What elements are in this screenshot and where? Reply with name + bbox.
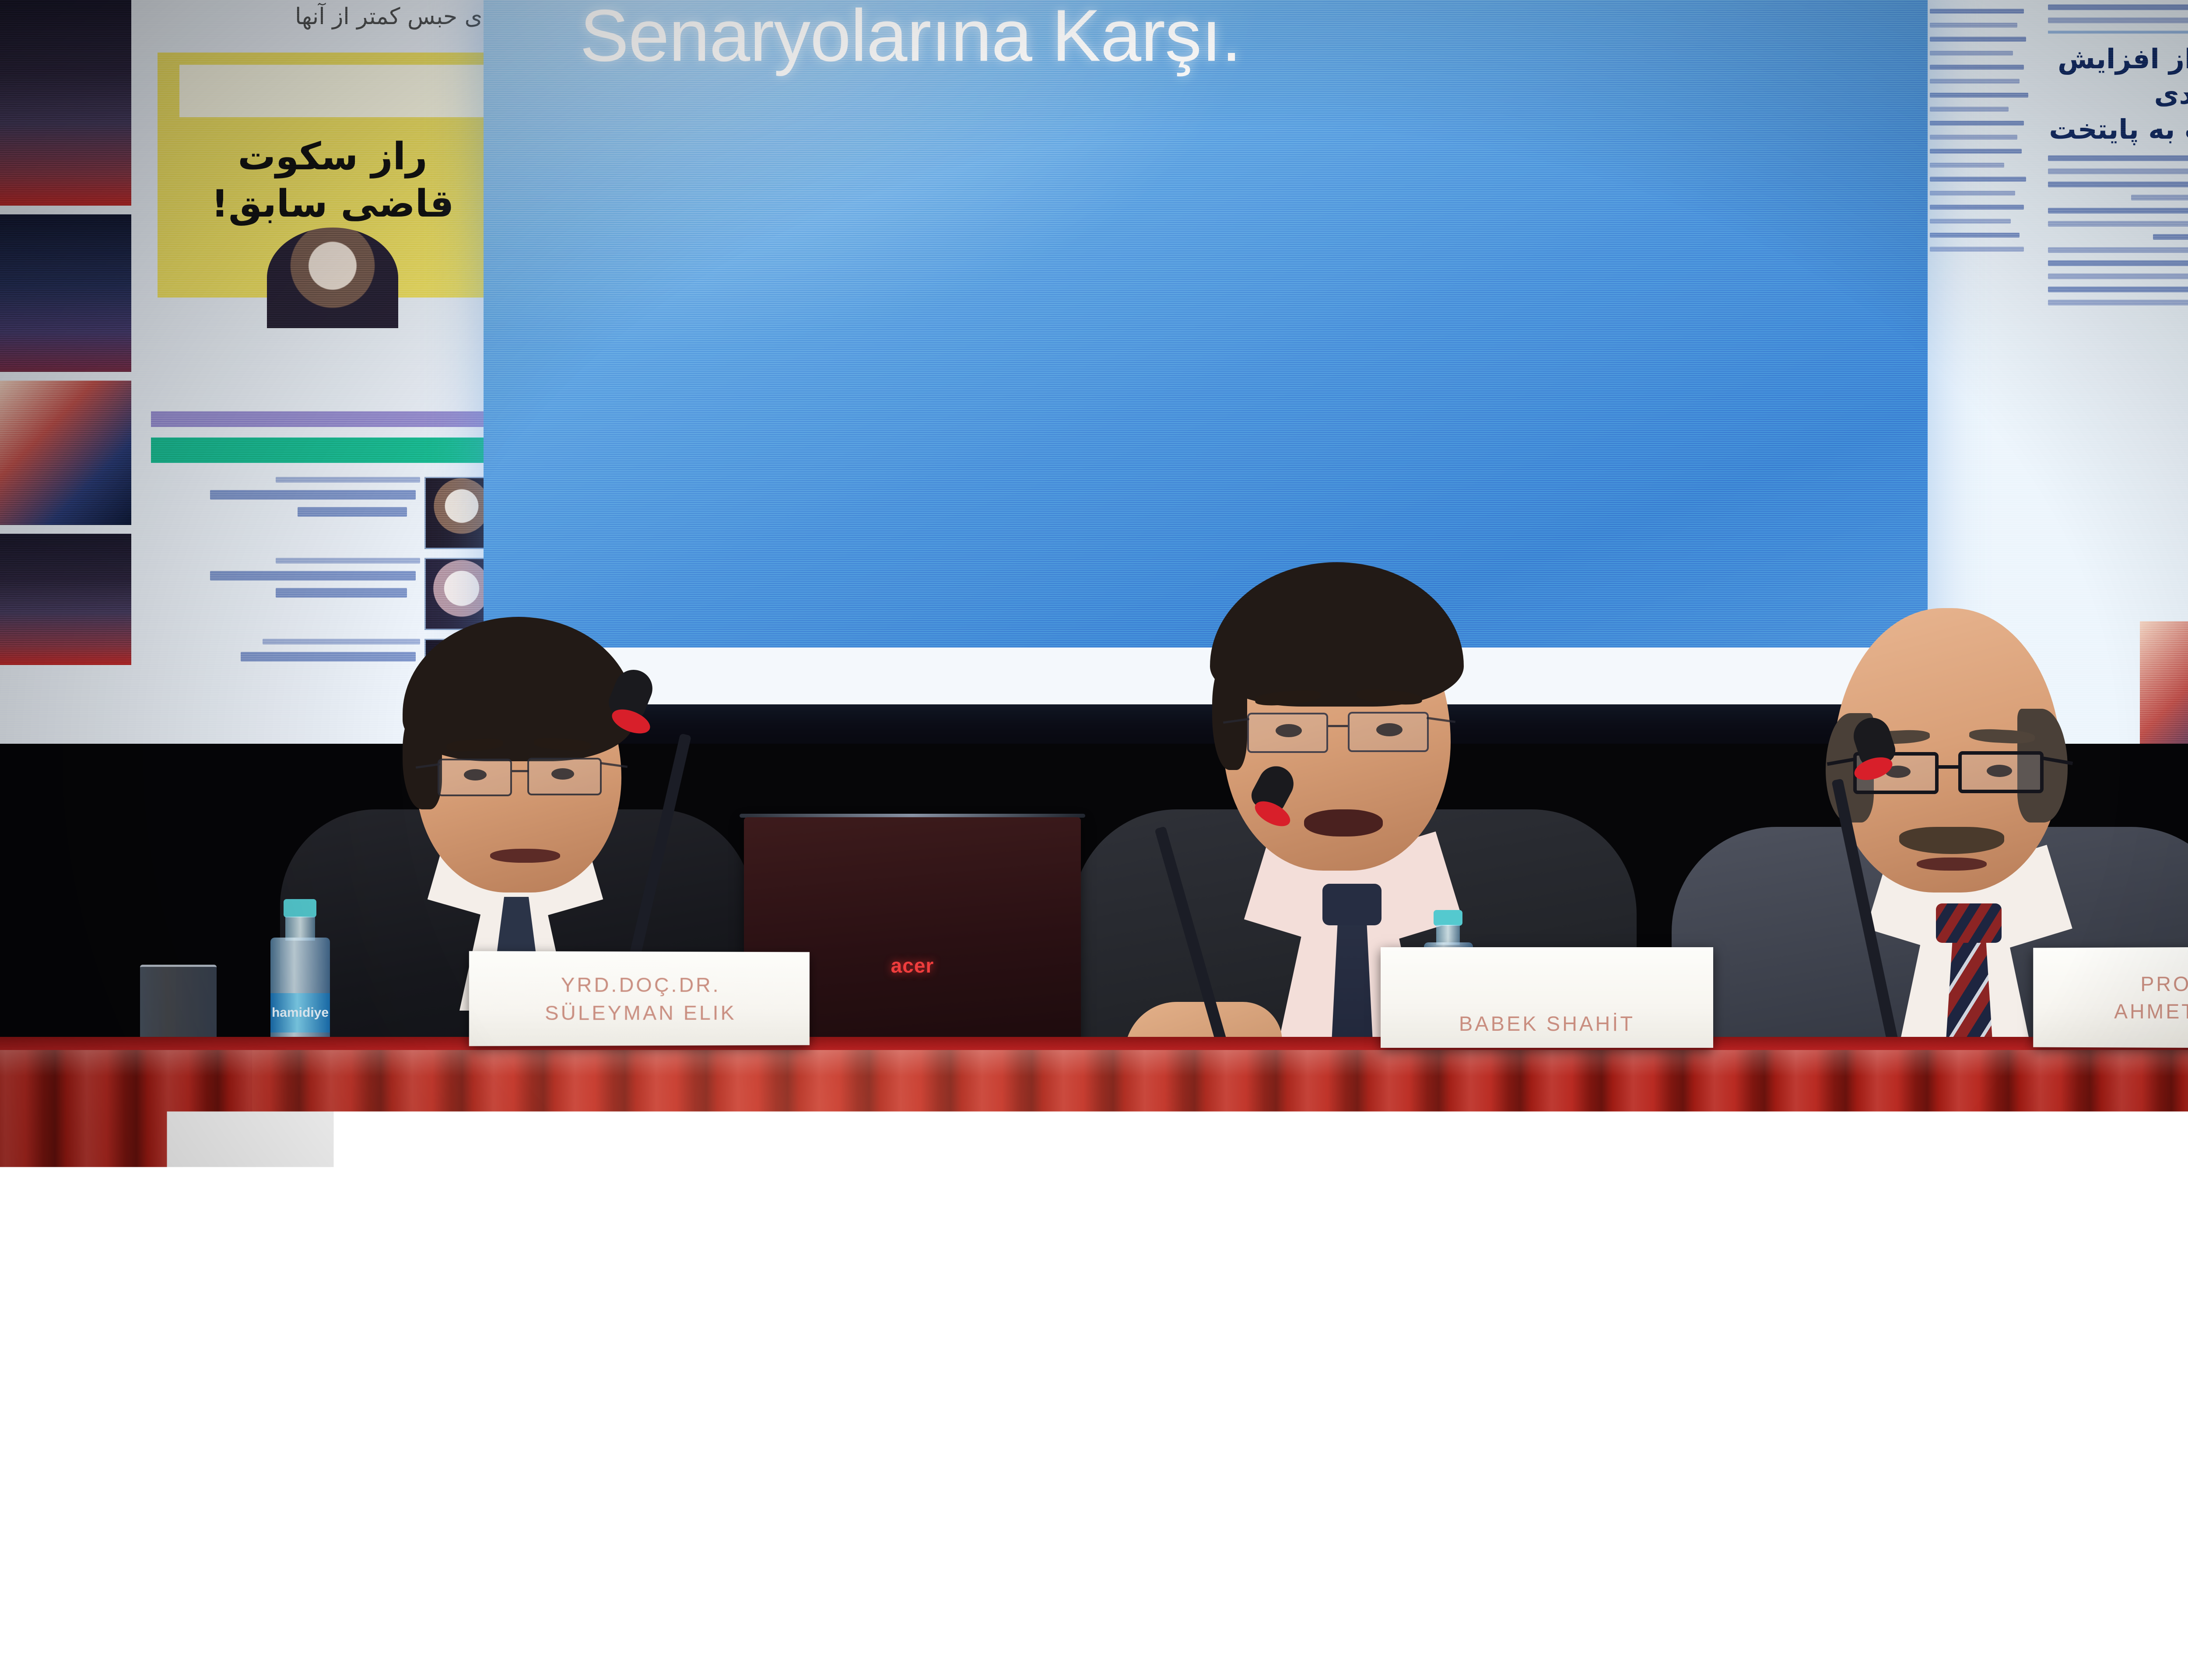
nameplate-name: SÜLEYMAN ELIK [545, 999, 736, 1027]
nameplate-name: BABEK SHAHİT [1459, 1010, 1635, 1037]
section-bar [151, 437, 501, 463]
newspaper-portrait [267, 227, 398, 328]
eyeglass-lens-left [438, 759, 512, 796]
slide-headline: Senaryolarına Karşı. [580, 0, 1241, 78]
tablecloth-shadow [0, 1365, 2188, 1680]
hair [1210, 562, 1464, 707]
mic-gooseneck [1831, 778, 1900, 1054]
nameplate-name: AHMET KAVAS [2114, 997, 2188, 1025]
eyeglasses [1243, 711, 1444, 761]
bottle-label: hamidiye [270, 993, 330, 1032]
protest-photo [0, 381, 131, 525]
nameplate-title: YRD.DOÇ.DR. [561, 971, 721, 999]
right-collage-headline: نگرانی از افزایش ۱۵ درصدی [2048, 42, 2188, 112]
nameplate-title: PROF.DR. [2140, 969, 2188, 997]
nameplate-babek-shahit: BABEK SHAHİT [1381, 947, 1713, 1048]
eyeglass-lens-right [1348, 712, 1429, 752]
water-brand-label: hamidiye [270, 1005, 330, 1020]
microphone-right[interactable] [1838, 717, 1978, 1072]
bottle-cap [1434, 910, 1462, 926]
eyeglass-temple [2042, 756, 2073, 765]
nameplate-suleyman-elik: YRD.DOÇ.DR. SÜLEYMAN ELIK [469, 951, 810, 1046]
bottle-neck [285, 917, 315, 941]
yellow-headline-box: راز سکوت قاضی سابق! [158, 52, 503, 297]
right-collage-subheadline: مهاجرت به پایتخت [2048, 112, 2188, 147]
mouth [490, 849, 560, 863]
protest-photo [0, 214, 131, 372]
eyeglass-lens-left [1247, 713, 1328, 753]
eyeglass-bridge [1328, 725, 1348, 727]
red-tablecloth [0, 1050, 2188, 1680]
yellow-box-headline: راز سکوت قاضی سابق! [175, 133, 490, 227]
eyeglass-bridge [512, 770, 529, 772]
nameplate-ahmet-kavas: PROF.DR. AHMET KAVAS [2033, 947, 2188, 1049]
protest-photo [0, 534, 131, 665]
eyeglass-temple [1427, 717, 1455, 723]
microphone-center[interactable] [1182, 766, 1322, 1072]
tablecloth-top-highlight [0, 1050, 2188, 1076]
hair-sideburn [1212, 661, 1247, 770]
conference-panel-photo: برای حبس کمتر از آنها راز سکوت قاضی سابق… [0, 0, 2188, 1680]
necktie-knot [1322, 884, 1382, 925]
protest-photo [0, 0, 131, 206]
bottle-cap [284, 899, 316, 917]
newspaper-strip-headline: برای حبس کمتر از آنها [144, 3, 508, 30]
section-bar [151, 411, 501, 427]
